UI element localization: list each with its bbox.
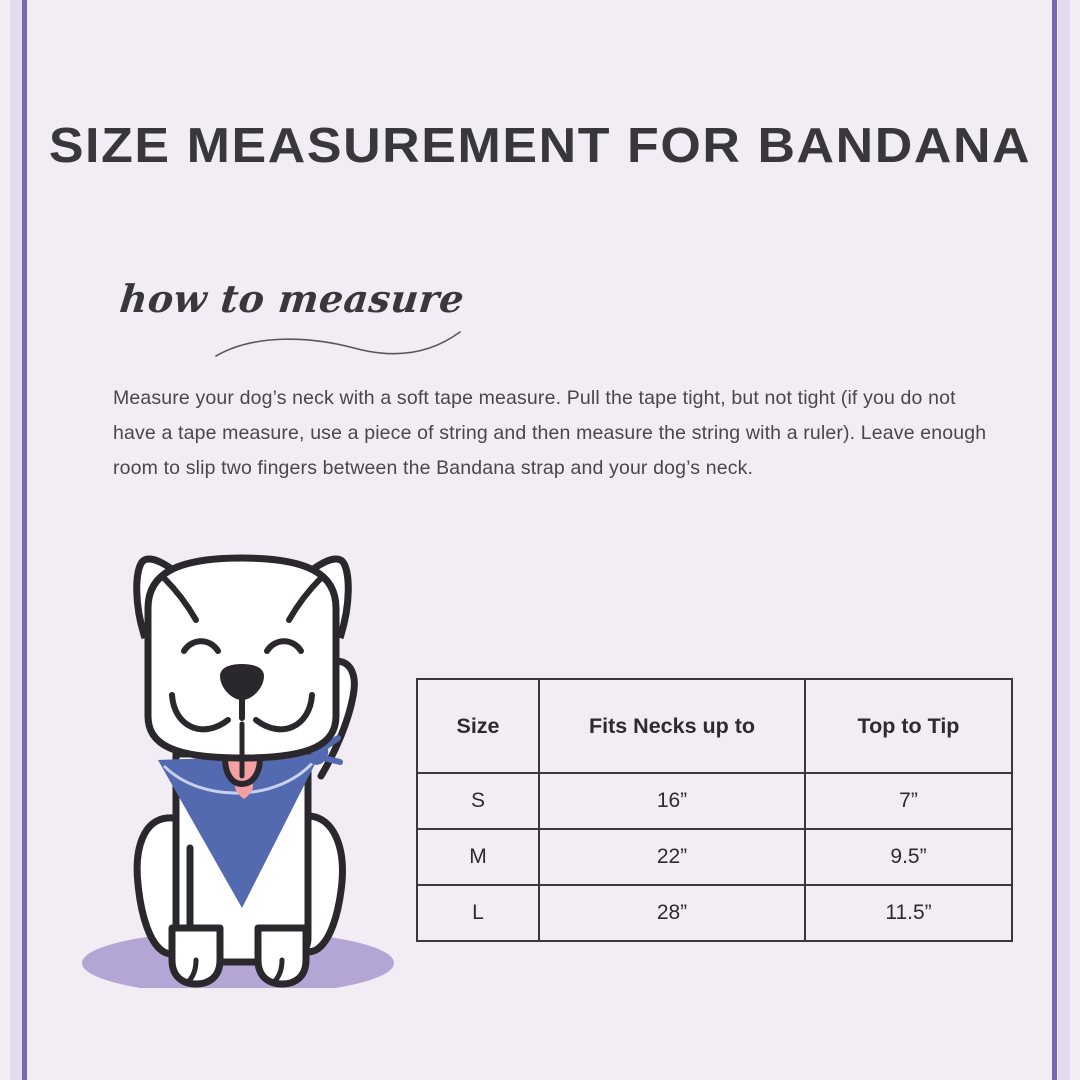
cell-size: M: [417, 829, 539, 885]
column-header-size: Size: [417, 679, 539, 773]
column-header-top-to-tip: Top to Tip: [805, 679, 1012, 773]
measure-instructions: Measure your dog’s neck with a soft tape…: [113, 381, 1003, 486]
cell-size: L: [417, 885, 539, 941]
cell-neck: 16”: [539, 773, 805, 829]
cell-tip: 11.5”: [805, 885, 1012, 941]
table-header-row: Size Fits Necks up to Top to Tip: [417, 679, 1012, 773]
table-row: S 16” 7”: [417, 773, 1012, 829]
cell-neck: 22”: [539, 829, 805, 885]
cell-tip: 7”: [805, 773, 1012, 829]
decorative-swash-icon: [214, 326, 464, 366]
cell-size: S: [417, 773, 539, 829]
table-row: M 22” 9.5”: [417, 829, 1012, 885]
cell-tip: 9.5”: [805, 829, 1012, 885]
dog-left-front-paw: [172, 928, 220, 984]
sitting-dog-illustration: [72, 548, 412, 988]
dog-right-front-paw: [258, 928, 306, 984]
size-chart-table: Size Fits Necks up to Top to Tip S 16” 7…: [416, 678, 1013, 942]
cell-neck: 28”: [539, 885, 805, 941]
how-to-measure-heading: how to measure: [118, 276, 467, 321]
size-guide-page: SIZE MEASUREMENT FOR BANDANA how to meas…: [0, 0, 1080, 1080]
column-header-fits-necks: Fits Necks up to: [539, 679, 805, 773]
table-row: L 28” 11.5”: [417, 885, 1012, 941]
dog-head-group: [137, 558, 349, 784]
page-title: SIZE MEASUREMENT FOR BANDANA: [0, 118, 1080, 174]
